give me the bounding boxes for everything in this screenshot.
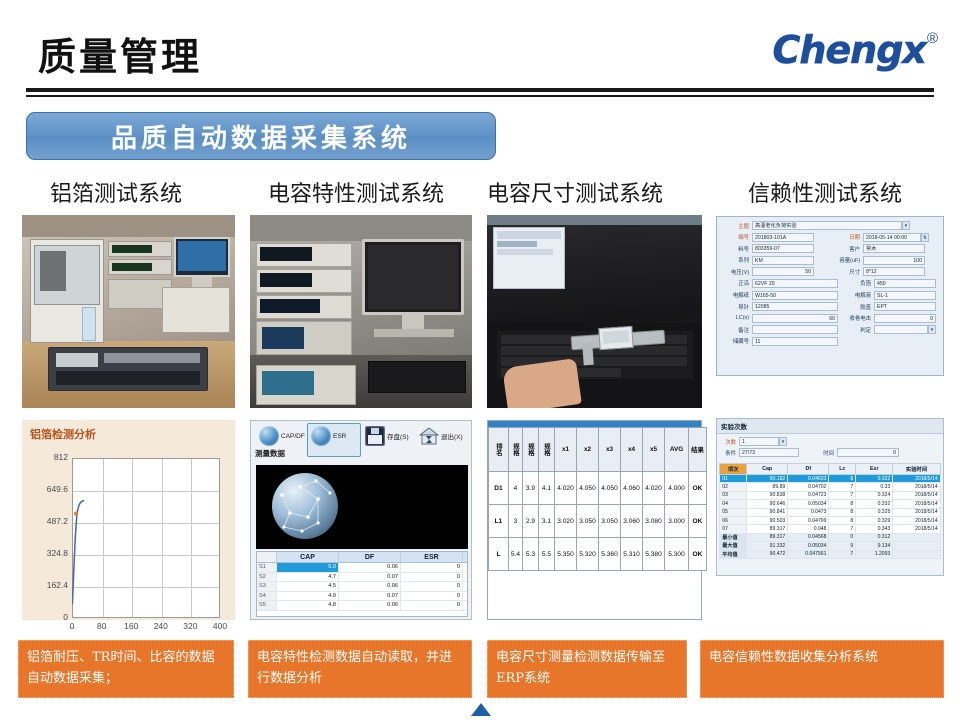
form-label-electrolyte: 电解液 [844, 291, 874, 299]
toolbar-button-exit[interactable]: 退出(X) [419, 426, 463, 446]
form-input-lc[interactable]: 60 [752, 314, 838, 323]
table-cell: 4.050 [577, 472, 599, 505]
control-label-time: 时间 [799, 449, 837, 457]
dimension-column-header: 规格 [509, 428, 523, 472]
grid-header-row: CAP DF ESR [257, 552, 467, 563]
toolbar-label-esr: ESR [333, 433, 346, 440]
table-row[interactable]: 0789.3170.04870.3432018/5/14 [720, 525, 940, 533]
form-label-anode: 正沿 [722, 279, 752, 287]
table-cell: 2.9 [523, 505, 539, 538]
form-row-shock[interactable]: 收卷电击 0 [844, 314, 938, 323]
table-cell: 0.329 [856, 516, 893, 524]
reliability-column-header: 实验时间 [893, 464, 940, 475]
form-label-shock: 收卷电击 [844, 314, 874, 322]
column-title-reliability: 信赖性测试系统 [748, 176, 902, 208]
table-cell: 8 [829, 516, 856, 524]
form-label-lead: 导针 [722, 303, 752, 311]
form-input-capacity[interactable]: 100 [863, 256, 925, 265]
dimension-column-header: x4 [621, 428, 643, 472]
form-input-shock[interactable]: 0 [874, 314, 936, 323]
form-label-customer: 客户 [833, 245, 863, 253]
caption-box-capdim: 电容尺寸测量检测数据传输至ERP系统 [487, 640, 687, 698]
form-input-remark[interactable] [752, 325, 838, 334]
summary-cell: 最小值 [720, 533, 747, 541]
chart-title: 铝箔检测分析 [30, 426, 96, 442]
control-row-condition-time[interactable]: 条件 27/73 时间 0 [721, 448, 939, 457]
table-cell: 5.300 [665, 538, 689, 571]
table-cell: 0.324 [856, 491, 893, 499]
form-label-subject: 主题 [722, 222, 752, 230]
form-input-series[interactable]: KM [752, 256, 814, 265]
form-row-date[interactable]: 日期 2018-05-14 00:00 ⇅ [833, 233, 938, 242]
reliability-column-header: 项次 [720, 464, 747, 475]
grid-cell: 4.9 [277, 592, 339, 601]
grid-cell: 0 [401, 573, 463, 582]
page-title: 质量管理 [38, 26, 202, 81]
chevron-down-icon-subject[interactable]: ▾ [902, 221, 910, 230]
chart-x-tick: 320 [177, 621, 203, 631]
table-cell: 0.322 [856, 475, 893, 483]
grid-row[interactable]: S24.70.070 [257, 573, 467, 583]
summary-row: 平均值90.4720.04756171.2093 [720, 550, 940, 558]
table-cell: 2018/5/14 [893, 475, 940, 483]
summary-cell: 最大值 [720, 542, 747, 550]
summary-cell [893, 550, 940, 558]
grid-cell: S4 [257, 592, 277, 601]
grid-cell: 0.06 [339, 601, 401, 610]
table-cell: 05 [720, 508, 747, 516]
dimension-column-header: 规格 [523, 428, 539, 472]
grid-cell: 0.07 [339, 573, 401, 582]
summary-cell: 90.472 [747, 550, 788, 558]
table-row[interactable]: 0190.1820.0463380.3222018/5/14 [720, 475, 940, 483]
grid-cell: 0 [401, 601, 463, 610]
summary-cell: 9.134 [856, 542, 893, 550]
table-cell: 2018/5/14 [893, 525, 940, 533]
dimension-column-header: x1 [555, 428, 577, 472]
table-cell: 90.838 [747, 491, 788, 499]
form-input-subject[interactable]: 高温老化负荷实验 [752, 221, 902, 230]
form-row-voltage[interactable]: 电压(V) 50 [722, 267, 827, 276]
grid-cell: 0.07 [339, 592, 401, 601]
toolbar-button-save[interactable]: 存盘(S) [365, 426, 409, 446]
grid-header-index [257, 552, 277, 562]
grid-cell: 0 [401, 592, 463, 601]
table-row[interactable]: L132.93.13.0203.0503.0503.0603.0803.000O… [489, 505, 707, 538]
grid-body[interactable]: S15.00.060S24.70.070S34.50.060S44.90.070… [257, 563, 467, 611]
grid-header-df: DF [339, 552, 401, 562]
control-label-condition: 条件 [721, 449, 739, 457]
table-cell: 2018/5/14 [893, 491, 940, 499]
control-label-count: 次数 [721, 438, 739, 446]
reliability-table-body[interactable]: 0190.1820.0463380.3222018/5/140289.890.0… [720, 475, 940, 559]
capacitance-measure-app[interactable]: CAP/DF ESR 存盘(S) 退出(X) 测 [250, 420, 472, 620]
table-cell: 2018/5/14 [893, 508, 940, 516]
form-label-number: 编号 [722, 233, 752, 241]
table-cell: 90.503 [747, 516, 788, 524]
table-cell: L [489, 538, 509, 571]
globe-icon-capdf [259, 426, 279, 446]
control-row-count[interactable]: 次数 1 ▾ [721, 437, 939, 446]
form-row-subject[interactable]: 主题 高温老化负荷实验 ▾ [722, 221, 938, 230]
spinner-icon-date[interactable]: ⇅ [921, 233, 929, 242]
table-cell: 7 [829, 483, 856, 491]
chart-y-tick: 812 [22, 452, 68, 462]
form-row-number[interactable]: 编号 201803-101A [722, 233, 827, 242]
network-lines-overlay [256, 465, 468, 549]
table-row[interactable]: 0690.5030.0479980.3292018/5/14 [720, 516, 940, 524]
table-cell: 4.1 [539, 472, 555, 505]
table-cell: 8 [829, 500, 856, 508]
chart-x-tick: 400 [207, 621, 233, 631]
form-row-paper[interactable]: 电解纸 W165-50 [722, 291, 838, 300]
table-cell: 03 [720, 491, 747, 499]
grid-cell: 0.06 [339, 582, 401, 591]
summary-cell: 0.05034 [788, 542, 829, 550]
dimension-column-header: x2 [577, 428, 599, 472]
exit-house-icon [419, 426, 439, 446]
header-rule-thick [26, 88, 934, 92]
chevron-down-icon-count[interactable]: ▾ [779, 437, 787, 446]
summary-cell: 1.2093 [856, 550, 893, 558]
toolbar-button-esr[interactable]: ESR [311, 426, 346, 446]
table-cell: OK [689, 505, 707, 538]
table-cell: 7 [829, 491, 856, 499]
toolbar-label-save: 存盘(S) [387, 431, 409, 441]
summary-row: 最小值89.3170.0456800.312 [720, 533, 940, 541]
measurement-viewport [256, 465, 468, 549]
reliability-panel-title: 实验次数 [717, 419, 943, 434]
table-cell: 0.0473 [788, 508, 829, 516]
form-row-judgement[interactable]: 判定 ▾ [844, 325, 938, 334]
brand-logo-text: Chengx [772, 28, 925, 72]
form-input-lead[interactable]: 12085 [752, 302, 838, 311]
form-input-date[interactable]: 2018-05-14 00:00 [863, 233, 921, 242]
form-label-date: 日期 [833, 233, 863, 241]
grid-cell: 4.8 [277, 601, 339, 610]
table-cell: 5.350 [555, 538, 577, 571]
table-cell: 04 [720, 500, 747, 508]
reliability-column-header: Cap [747, 464, 788, 475]
form-label-remark: 备注 [722, 326, 752, 334]
form-row-storeno[interactable]: 储藏号 11 [722, 337, 938, 346]
dimension-measure-table-panel[interactable]: 排名规格规格规格x1x2x3x4x5AVG结果 D143.94.14.0204.… [487, 420, 702, 620]
dimension-table[interactable]: 排名规格规格规格x1x2x3x4x5AVG结果 D143.94.14.0204.… [488, 427, 707, 571]
table-cell: 89.317 [747, 525, 788, 533]
column-title-foil: 铝箔测试系统 [50, 176, 182, 208]
table-cell: 5.360 [599, 538, 621, 571]
dimension-column-header: AVG [665, 428, 689, 472]
table-cell: 3.050 [599, 505, 621, 538]
chart-series-curve [72, 458, 220, 618]
table-cell: 0.33 [856, 483, 893, 491]
table-cell: 0.04633 [788, 475, 829, 483]
registered-mark-icon: ® [927, 30, 938, 47]
grid-cell: 0 [401, 563, 463, 572]
table-cell: D1 [489, 472, 509, 505]
grid-cell: 0 [401, 582, 463, 591]
form-row-customer[interactable]: 客户 常木 [833, 244, 938, 253]
grid-row[interactable]: S15.00.060 [257, 563, 467, 573]
form-row-series[interactable]: 系列 KM [722, 256, 827, 265]
control-input-time[interactable]: 0 [837, 448, 899, 457]
grid-header-cap: CAP [277, 552, 339, 562]
table-cell: 90.182 [747, 475, 788, 483]
table-cell: 5.3 [523, 538, 539, 571]
chart-y-tick: 649.6 [22, 484, 68, 494]
reliability-data-panel[interactable]: 实验次数 次数 1 ▾ 条件 27/73 时间 0 项次CapDfLcEsr实验… [716, 418, 944, 576]
grid-cell: S5 [257, 601, 277, 610]
form-input-customer[interactable]: 常木 [863, 244, 925, 253]
form-input-judgement[interactable] [874, 325, 928, 334]
table-cell: 3.060 [621, 505, 643, 538]
form-input-paper[interactable]: W165-50 [752, 291, 838, 300]
table-cell: 0.048 [788, 525, 829, 533]
table-cell: 89.89 [747, 483, 788, 491]
form-label-judgement: 判定 [844, 326, 874, 334]
grid-cell: 5.0 [277, 563, 339, 572]
table-cell: 01 [720, 475, 747, 483]
photo-capacitance-test-bench [250, 215, 472, 408]
table-cell: 02 [720, 483, 747, 491]
control-input-condition[interactable]: 27/73 [739, 448, 799, 457]
dimension-column-header: 结果 [689, 428, 707, 472]
chart-x-tick: 80 [89, 621, 115, 631]
form-input-electrolyte[interactable]: SL-1 [874, 291, 936, 300]
reliability-column-header: Df [788, 464, 829, 475]
form-row-cover[interactable]: 胶盖 EPT [844, 302, 938, 311]
chart-x-tick: 0 [59, 621, 85, 631]
banner-title-text: 品质自动数据采集系统 [111, 118, 411, 155]
dimension-column-header: x5 [643, 428, 665, 472]
form-input-cover[interactable]: EPT [874, 302, 936, 311]
chart-y-tick: 162.4 [22, 580, 68, 590]
summary-cell: 0.047561 [788, 550, 829, 558]
table-cell: 0.04799 [788, 516, 829, 524]
photo-foil-test-bench [22, 215, 235, 408]
chart-y-tick: 324.8 [22, 548, 68, 558]
dimension-column-header: 规格 [539, 428, 555, 472]
slide-root: 质量管理 Chengx ® 品质自动数据采集系统 铝箔测试系统 电容特性测试系统… [0, 0, 960, 720]
form-input-storeno[interactable]: 11 [752, 337, 838, 346]
grid-cell: S3 [257, 582, 277, 591]
nav-next-arrow-icon[interactable] [471, 703, 491, 716]
table-cell: 06 [720, 516, 747, 524]
toolbar-button-capdf[interactable]: CAP/DF [259, 426, 305, 446]
table-cell: 0.343 [856, 525, 893, 533]
header-rule-thin [26, 95, 934, 97]
table-row[interactable]: 0390.8380.0472370.3242018/5/14 [720, 491, 940, 499]
form-label-paper: 电解纸 [722, 291, 752, 299]
table-cell: 3.1 [539, 505, 555, 538]
form-row-partno[interactable]: 料号 803359-07 [722, 244, 827, 253]
table-cell: 0.04702 [788, 483, 829, 491]
dimension-table-header: 排名规格规格规格x1x2x3x4x5AVG结果 [489, 428, 707, 472]
foil-analysis-chart: 铝箔检测分析 812649.6487.2324.8162.40 08016024… [22, 420, 235, 620]
form-label-lc: LC(s) [722, 315, 752, 321]
table-cell: 4 [509, 472, 523, 505]
form-input-cathode[interactable]: 450 [874, 279, 936, 288]
table-cell: 4.020 [643, 472, 665, 505]
grid-row[interactable]: S54.80.060 [257, 601, 467, 611]
form-label-size: 尺寸 [833, 268, 863, 276]
table-cell: 8 [829, 508, 856, 516]
table-cell: 2018/5/14 [893, 483, 940, 491]
table-cell: 7 [829, 525, 856, 533]
table-cell: OK [689, 538, 707, 571]
form-input-voltage[interactable]: 50 [752, 267, 814, 276]
table-cell: 5.5 [539, 538, 555, 571]
table-row[interactable]: D143.94.14.0204.0504.0504.0604.0204.000O… [489, 472, 707, 505]
table-cell: 0.332 [856, 500, 893, 508]
table-cell: 0.04723 [788, 491, 829, 499]
banner-title-box: 品质自动数据采集系统 [26, 112, 496, 160]
summary-cell: 0.04568 [788, 533, 829, 541]
table-cell: 0.05034 [788, 500, 829, 508]
table-cell: 3 [509, 505, 523, 538]
summary-cell: 7 [829, 550, 856, 558]
table-cell: OK [689, 472, 707, 505]
form-row-lc[interactable]: LC(s) 60 [722, 314, 838, 323]
brand-logo: Chengx ® [772, 28, 938, 72]
reliability-form-panel[interactable]: 主题 高温老化负荷实验 ▾ 编号 201803-101A 料号 803359-0… [716, 216, 944, 376]
form-input-number[interactable]: 201803-101A [752, 233, 814, 242]
table-cell: 5.4 [509, 538, 523, 571]
table-cell: 3.020 [555, 505, 577, 538]
chart-y-tick: 487.2 [22, 516, 68, 526]
summary-row: 最大值91.3320.0503499.134 [720, 542, 940, 550]
caption-box-capchar: 电容特性检测数据自动读取，并进行数据分析 [248, 640, 472, 698]
reliability-column-header: Lc [829, 464, 856, 475]
form-row-capacity[interactable]: 容量(uF) 100 [833, 256, 938, 265]
toolbar-label-exit: 退出(X) [441, 431, 463, 441]
measured-data-label: 测量数据 [255, 448, 285, 459]
table-cell: L1 [489, 505, 509, 538]
control-input-count[interactable]: 1 [739, 437, 779, 446]
form-input-size[interactable]: 8*12 [863, 267, 925, 276]
summary-cell: 91.332 [747, 542, 788, 550]
form-input-partno[interactable]: 803359-07 [752, 244, 814, 253]
table-cell: 5.380 [643, 538, 665, 571]
form-label-cover: 胶盖 [844, 303, 874, 311]
table-row[interactable]: 0590.8410.047380.3252018/5/14 [720, 508, 940, 516]
summary-cell: 9 [829, 542, 856, 550]
table-cell: 5.310 [621, 538, 643, 571]
column-title-capchar: 电容特性测试系统 [268, 176, 444, 208]
table-cell: 4.060 [621, 472, 643, 505]
chart-x-tick: 160 [118, 621, 144, 631]
caption-box-reliability: 电容信赖性数据收集分析系统 [700, 640, 944, 698]
grid-header-esr: ESR [401, 552, 463, 562]
table-cell: 2018/5/14 [893, 516, 940, 524]
table-cell: 3.080 [643, 505, 665, 538]
table-row[interactable]: 0289.890.0470270.332018/5/14 [720, 483, 940, 491]
grid-cell: S1 [257, 563, 277, 572]
table-row[interactable]: 0490.6460.0503480.3322018/5/14 [720, 500, 940, 508]
table-cell: 3.050 [577, 505, 599, 538]
table-cell: 0.325 [856, 508, 893, 516]
table-cell: 3.9 [523, 472, 539, 505]
measurement-grid[interactable]: CAP DF ESR S15.00.060S24.70.070S34.50.06… [256, 551, 468, 617]
caption-box-foil: 铝箔耐压、TR时间、比容的数据自动数据采集； [18, 640, 234, 698]
summary-cell: 0.312 [856, 533, 893, 541]
summary-cell: 89.317 [747, 533, 788, 541]
dimension-column-header: x3 [599, 428, 621, 472]
table-cell: 5.320 [577, 538, 599, 571]
table-cell: 4.020 [555, 472, 577, 505]
table-cell: 2018/5/14 [893, 500, 940, 508]
summary-cell: 平均值 [720, 550, 747, 558]
summary-cell [893, 533, 940, 541]
form-label-series: 系列 [722, 256, 752, 264]
form-input-anode[interactable]: 62VF 20 [752, 279, 838, 288]
reliability-table-header: 项次CapDfLcEsr实验时间 [720, 464, 940, 475]
form-row-anode[interactable]: 正沿 62VF 20 [722, 279, 838, 288]
table-cell: 07 [720, 525, 747, 533]
grid-cell: 4.7 [277, 573, 339, 582]
dimension-table-body[interactable]: D143.94.14.0204.0504.0504.0604.0204.000O… [489, 472, 707, 571]
form-row-lead[interactable]: 导针 12085 [722, 302, 838, 311]
grid-cell: 0.06 [339, 563, 401, 572]
form-label-voltage: 电压(V) [722, 268, 752, 276]
toolbar-label-capdf: CAP/DF [281, 433, 305, 440]
reliability-table[interactable]: 项次CapDfLcEsr实验时间 0190.1820.0463380.32220… [719, 463, 940, 559]
reliability-column-header: Esr [856, 464, 893, 475]
chart-x-tick: 240 [148, 621, 174, 631]
form-row-electrolyte[interactable]: 电解液 SL-1 [844, 291, 938, 300]
table-cell: 4.000 [665, 472, 689, 505]
form-label-capacity: 容量(uF) [833, 256, 863, 264]
chevron-down-icon-judgement[interactable]: ▾ [928, 325, 936, 334]
photo-caliper-measurement [487, 215, 702, 408]
form-row-cathode[interactable]: 负箔 450 [844, 279, 938, 288]
form-label-storeno: 储藏号 [722, 337, 752, 345]
table-row[interactable]: L5.45.35.55.3505.3205.3605.3105.3805.300… [489, 538, 707, 571]
dimension-column-header: 排名 [489, 428, 509, 472]
form-row-size[interactable]: 尺寸 8*12 [833, 267, 938, 276]
table-cell: 8 [829, 475, 856, 483]
form-label-partno: 料号 [722, 245, 752, 253]
table-cell: 3.000 [665, 505, 689, 538]
table-cell: 90.841 [747, 508, 788, 516]
form-label-cathode: 负箔 [844, 279, 874, 287]
column-title-capdim: 电容尺寸测试系统 [487, 176, 663, 208]
form-row-remark[interactable]: 备注 [722, 325, 838, 334]
table-cell: 90.646 [747, 500, 788, 508]
globe-icon-esr [311, 426, 331, 446]
grid-cell: S2 [257, 573, 277, 582]
table-cell: 4.050 [599, 472, 621, 505]
reliability-controls[interactable]: 次数 1 ▾ 条件 27/73 时间 0 [717, 434, 943, 461]
floppy-icon-save [365, 426, 385, 446]
app-toolbar[interactable]: CAP/DF ESR 存盘(S) 退出(X) 测 [251, 421, 471, 463]
grid-row[interactable]: S34.50.060 [257, 582, 467, 592]
grid-row[interactable]: S44.90.070 [257, 592, 467, 602]
grid-cell: 4.5 [277, 582, 339, 591]
summary-cell: 0 [829, 533, 856, 541]
summary-cell [893, 542, 940, 550]
